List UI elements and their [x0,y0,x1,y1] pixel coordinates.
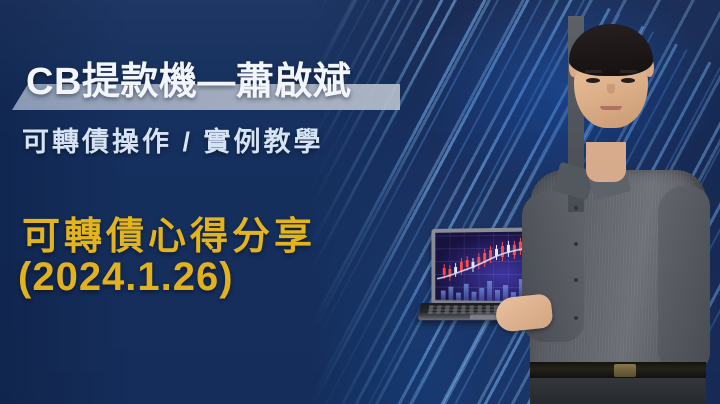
volume-bar [456,293,461,301]
presenter-eye-right [621,78,635,83]
volume-bar [464,284,469,301]
volume-bar [441,291,446,301]
presenter-eyebrow-right [620,70,637,73]
presenter-photo [512,10,720,404]
volume-bar [479,288,484,301]
presenter-eyebrow-left [585,70,602,73]
presenter-pants [530,378,706,404]
volume-bar [472,292,477,301]
page-subtitle: 可轉債操作 / 實例教學 [22,120,324,159]
volume-bar [495,290,500,301]
date-text: (2024.1.26) [18,255,234,300]
presenter-nose [607,84,615,94]
presenter-neck [586,142,626,182]
presenter-mouth [600,106,622,110]
shirt-button [574,206,578,210]
belt-buckle [614,364,636,377]
video-thumbnail: CB提款機—蕭啟斌 可轉債操作 / 實例教學 可轉債心得分享 (2024.1.2… [0,0,720,404]
headline-text: 可轉債心得分享 [22,205,316,260]
presenter-eye-left [586,78,600,83]
shirt-button [574,242,578,246]
presenter-hand [494,293,553,333]
shirt-button [574,316,578,320]
page-title: CB提款機—蕭啟斌 [26,50,351,105]
volume-bar [448,287,453,301]
shirt-button [574,278,578,282]
presenter-belt [530,362,706,379]
presenter-right-arm [658,186,710,368]
